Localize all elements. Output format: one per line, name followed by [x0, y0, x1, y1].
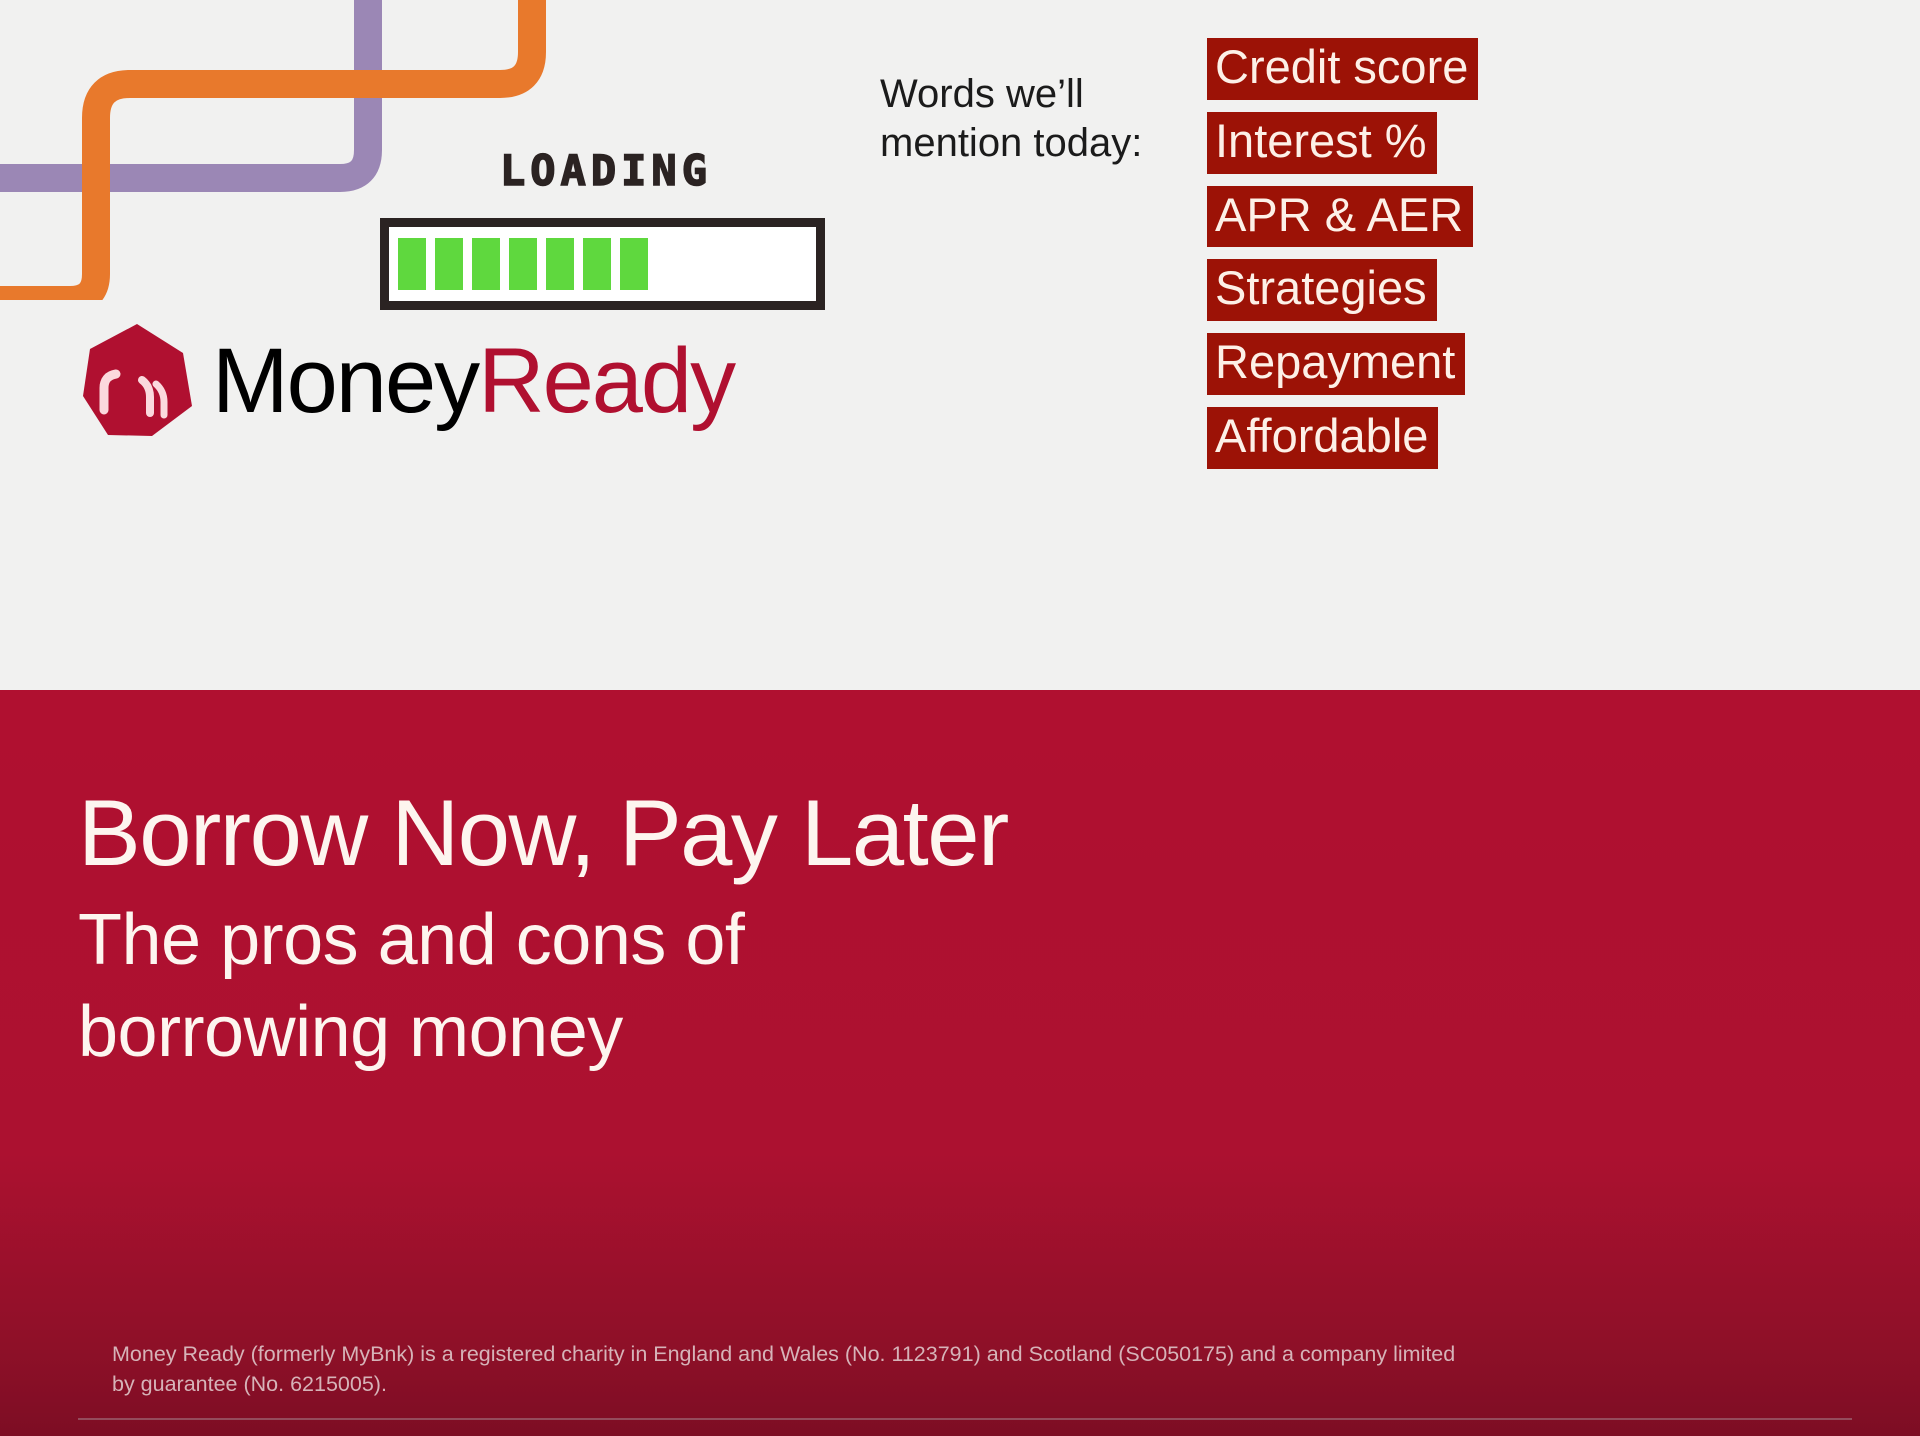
footer-divider — [78, 1418, 1852, 1420]
words-intro-text: Words we’ll mention today: — [880, 70, 1180, 168]
presentation-slide: LOADING Mo — [0, 0, 1920, 1436]
loading-segment — [620, 238, 648, 290]
slide-top-panel: LOADING Mo — [0, 0, 1920, 690]
word-badge-apr-aer: APR & AER — [1207, 186, 1473, 248]
loading-segment — [546, 238, 574, 290]
footer-legal-text: Money Ready (formerly MyBnk) is a regist… — [0, 1339, 1920, 1400]
title-block: Borrow Now, Pay Later The pros and cons … — [78, 786, 1138, 1078]
money-ready-polygon-mark — [80, 322, 194, 440]
word-badge-strategies: Strategies — [1207, 259, 1437, 321]
word-badge-affordable: Affordable — [1207, 407, 1438, 469]
key-words-list: Credit score Interest % APR & AER Strate… — [1207, 38, 1478, 469]
loading-segment — [435, 238, 463, 290]
loading-segment — [509, 238, 537, 290]
slide-subheadline: The pros and cons of borrowing money — [78, 894, 1138, 1078]
words-intro-line-2: mention today: — [880, 119, 1180, 168]
subheadline-line-1: The pros and cons of — [78, 894, 1138, 986]
money-ready-wordmark: MoneyReady — [212, 335, 734, 427]
loading-label: LOADING — [396, 150, 816, 192]
loading-segment — [583, 238, 611, 290]
subheadline-line-2: borrowing money — [78, 986, 1138, 1078]
slide-title-band: Borrow Now, Pay Later The pros and cons … — [0, 690, 1920, 1436]
word-badge-repayment: Repayment — [1207, 333, 1465, 395]
loading-segment — [398, 238, 426, 290]
loading-segment — [472, 238, 500, 290]
loading-progress-bar — [380, 218, 825, 310]
loading-graphic: LOADING — [396, 150, 816, 320]
word-badge-credit-score: Credit score — [1207, 38, 1478, 100]
slide-headline: Borrow Now, Pay Later — [78, 786, 1138, 880]
footer-line-1: Money Ready (formerly MyBnk) is a regist… — [112, 1339, 1760, 1370]
logo-word-ready: Ready — [478, 330, 734, 432]
money-ready-logo: MoneyReady — [80, 322, 734, 440]
words-intro-line-1: Words we’ll — [880, 70, 1180, 119]
word-badge-interest-percent: Interest % — [1207, 112, 1437, 174]
footer-line-2: by guarantee (No. 6215005). — [112, 1369, 1760, 1400]
logo-word-money: Money — [212, 330, 478, 432]
loading-progress-track — [389, 227, 816, 301]
